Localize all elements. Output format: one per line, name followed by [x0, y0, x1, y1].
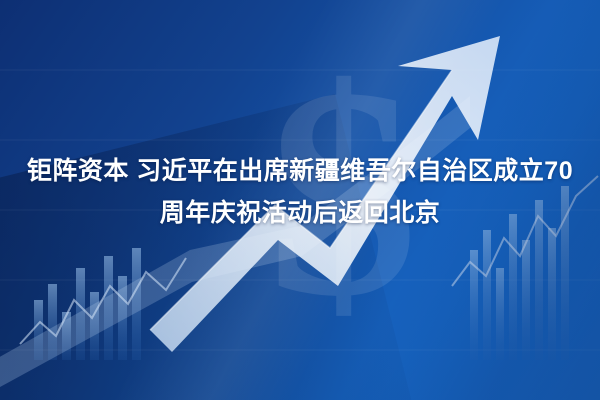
headline-text: 钜阵资本 习近平在出席新疆维吾尔自治区成立70 周年庆祝活动后返回北京	[0, 150, 600, 234]
headline-line-2: 周年庆祝活动后返回北京	[8, 192, 592, 234]
headline-line-1: 钜阵资本 习近平在出席新疆维吾尔自治区成立70	[8, 150, 592, 192]
news-banner-image: $ 钜阵资本 习近平在出席新疆维吾尔自治区成立70 周年庆祝活动后返回北京	[0, 0, 600, 400]
